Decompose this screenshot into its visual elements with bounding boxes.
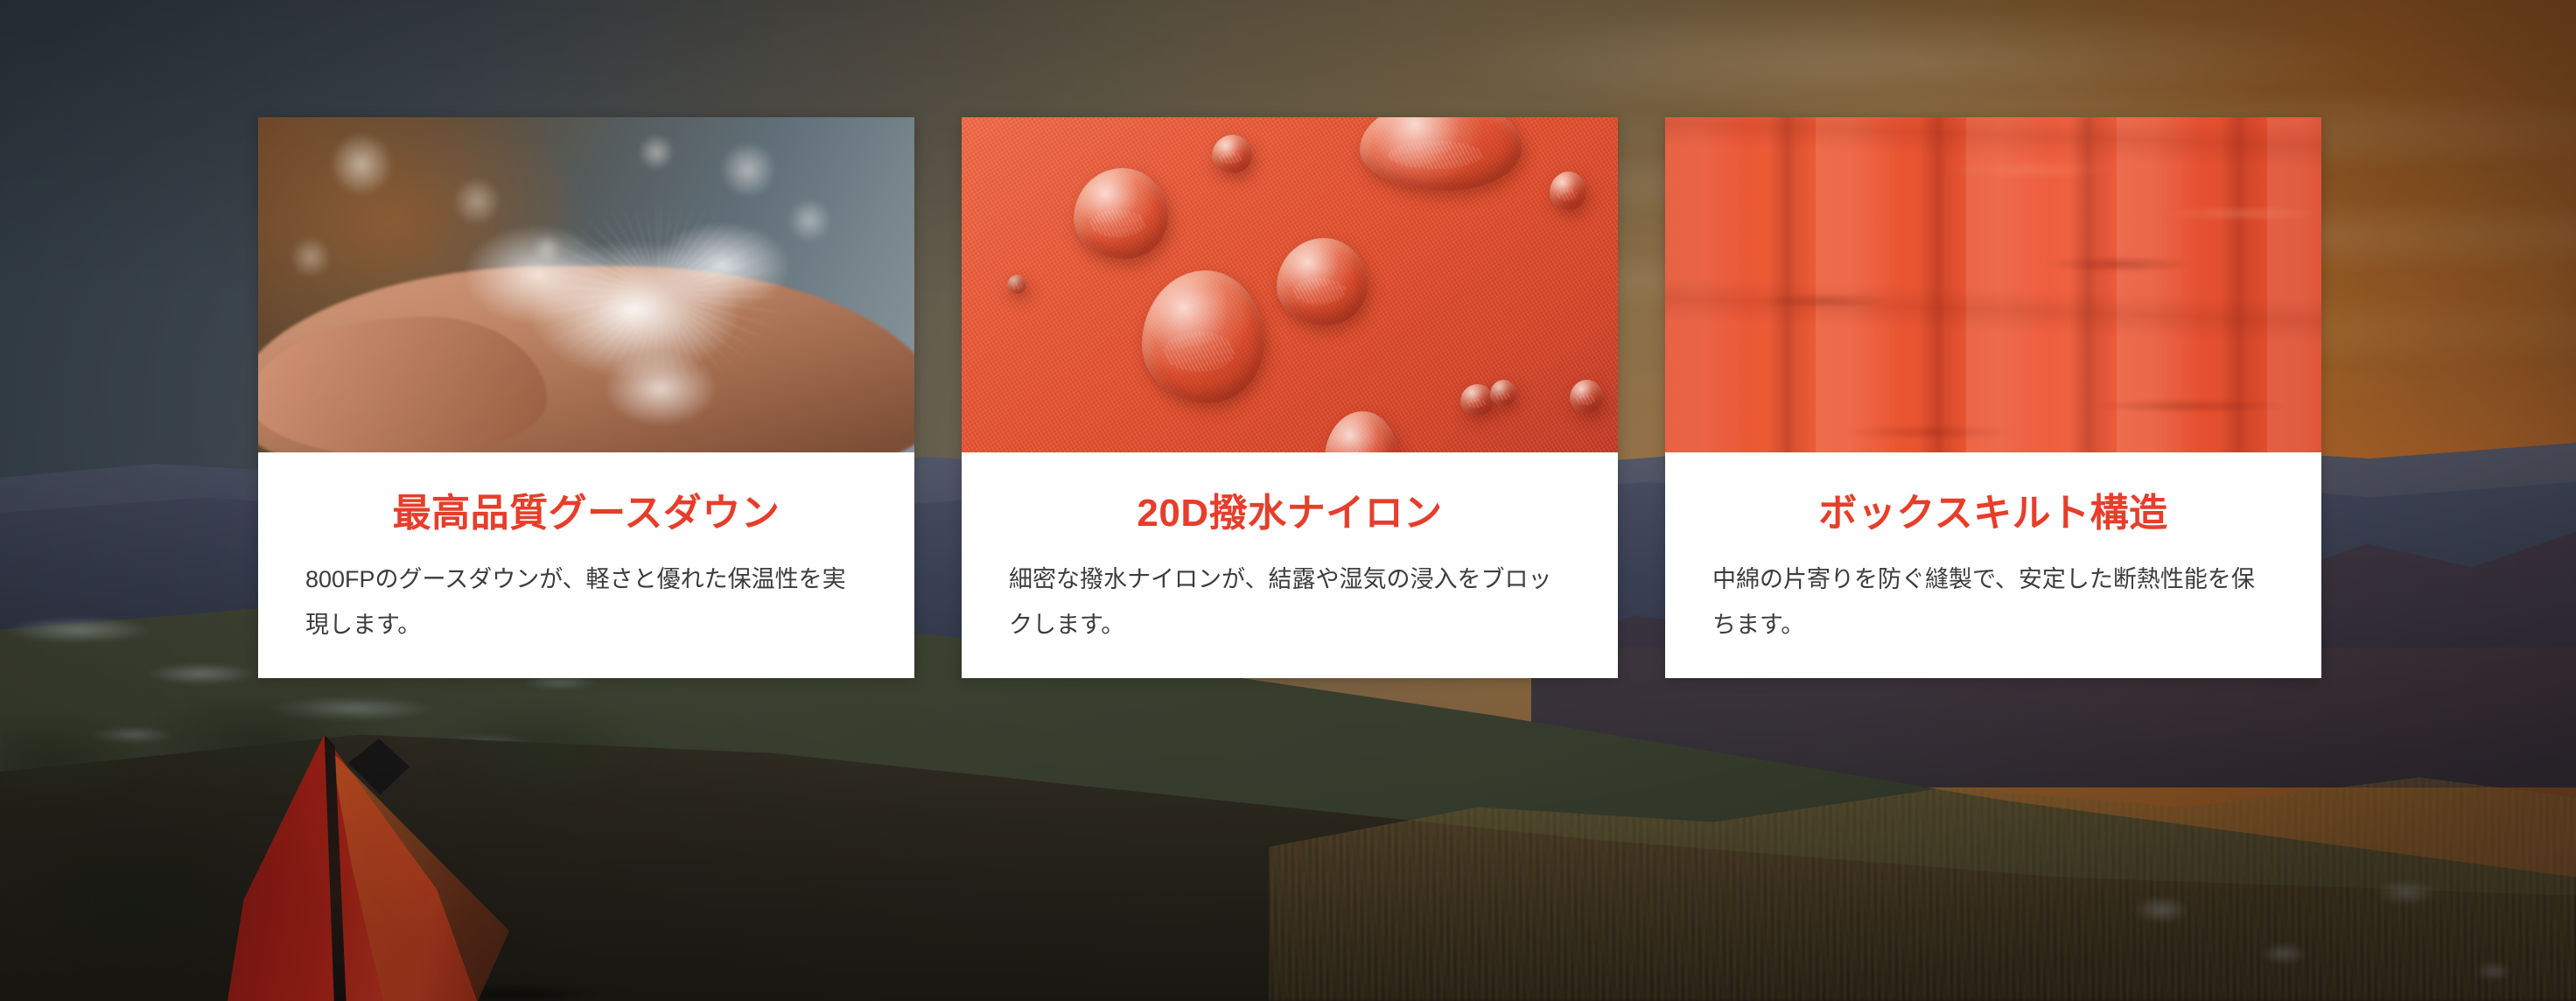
down-cluster xyxy=(433,170,836,432)
water-droplet xyxy=(1074,168,1168,259)
feature-card-row: 最高品質グースダウン 800FPのグースダウンが、軽さと優れた保温性を実現します… xyxy=(258,117,2325,678)
water-droplet xyxy=(1490,380,1516,406)
fabric-creases xyxy=(1665,117,2321,452)
background-red-tent xyxy=(227,735,630,1001)
feature-card-title: ボックスキルト構造 xyxy=(1712,491,2274,537)
feature-card-title: 20D撥水ナイロン xyxy=(1009,491,1571,537)
feature-card-image xyxy=(962,117,1618,452)
feature-card-title: 最高品質グースダウン xyxy=(305,491,867,537)
background-scattered-rocks xyxy=(2056,857,2576,1001)
feature-card-body: 最高品質グースダウン 800FPのグースダウンが、軽さと優れた保温性を実現します… xyxy=(258,452,914,678)
feature-card-description: 中綿の片寄りを防ぐ縫製で、安定した断熱性能を保ちます。 xyxy=(1712,556,2274,648)
water-droplet xyxy=(1570,380,1603,413)
feature-card-body: ボックスキルト構造 中綿の片寄りを防ぐ縫製で、安定した断熱性能を保ちます。 xyxy=(1665,452,2321,678)
feature-card-image xyxy=(258,117,914,452)
water-droplet xyxy=(1007,275,1026,294)
feature-card-description: 800FPのグースダウンが、軽さと優れた保温性を実現します。 xyxy=(305,556,867,648)
feature-card[interactable]: 20D撥水ナイロン 細密な撥水ナイロンが、結露や湿気の浸入をブロックします。 xyxy=(962,117,1618,678)
water-droplet xyxy=(1277,238,1368,325)
feature-card-image xyxy=(1665,117,2321,452)
feature-card-body: 20D撥水ナイロン 細密な撥水ナイロンが、結露や湿気の浸入をブロックします。 xyxy=(962,452,1618,678)
feature-section: 最高品質グースダウン 800FPのグースダウンが、軽さと優れた保温性を実現します… xyxy=(0,0,2576,1001)
feature-card[interactable]: ボックスキルト構造 中綿の片寄りを防ぐ縫製で、安定した断熱性能を保ちます。 xyxy=(1665,117,2321,678)
water-droplet xyxy=(1550,171,1586,210)
water-droplet xyxy=(1460,384,1494,416)
feature-card[interactable]: 最高品質グースダウン 800FPのグースダウンが、軽さと優れた保温性を実現します… xyxy=(258,117,914,678)
water-droplet xyxy=(1212,135,1252,173)
feature-card-description: 細密な撥水ナイロンが、結露や湿気の浸入をブロックします。 xyxy=(1009,556,1571,648)
